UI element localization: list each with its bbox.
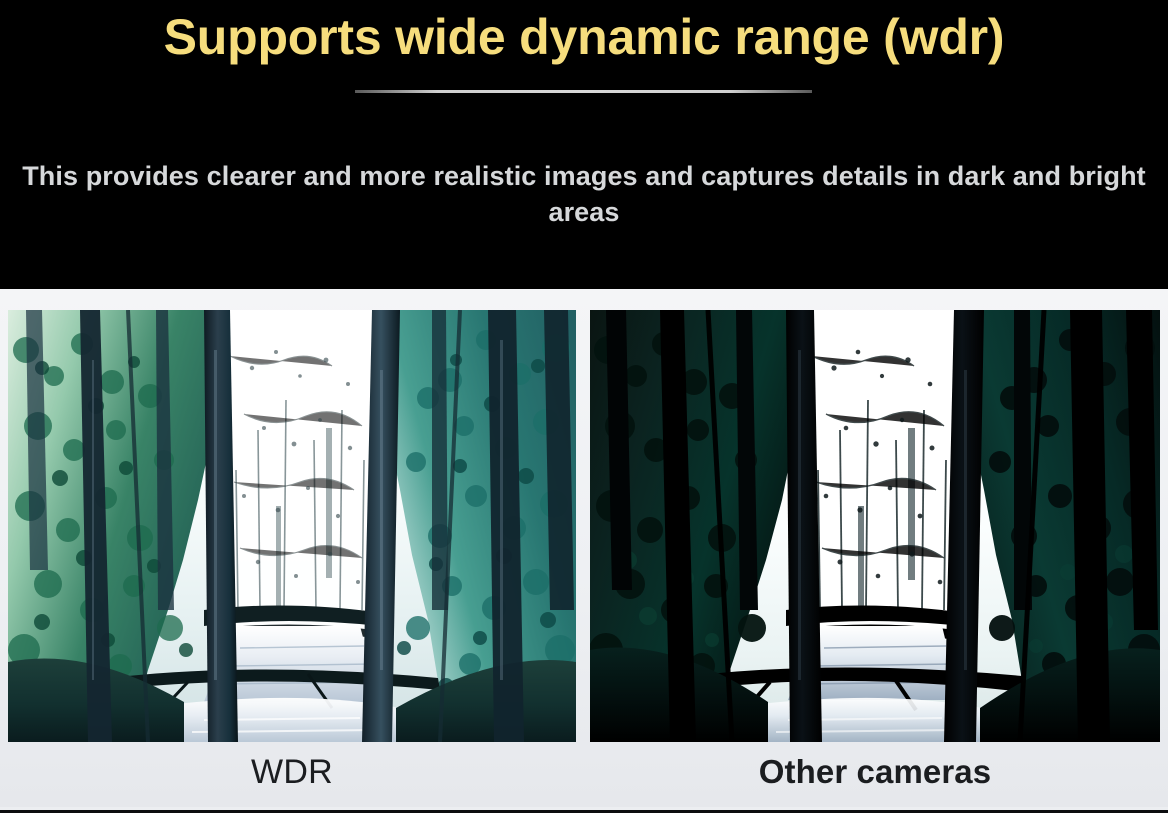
- caption-wdr: WDR: [8, 742, 576, 802]
- forest-scene-wdr: [8, 310, 576, 742]
- image-panel-wdr[interactable]: [8, 310, 576, 742]
- header-band: Supports wide dynamic range (wdr) This p…: [0, 0, 1168, 289]
- wdr-comparison-slide: Supports wide dynamic range (wdr) This p…: [0, 0, 1168, 813]
- image-panel-other-cameras[interactable]: [590, 310, 1160, 742]
- page-subtitle: This provides clearer and more realistic…: [14, 158, 1154, 230]
- page-title: Supports wide dynamic range (wdr): [0, 6, 1168, 68]
- caption-row: WDR Other cameras: [0, 742, 1168, 802]
- panel-row: [0, 289, 1168, 742]
- caption-other-cameras: Other cameras: [590, 742, 1160, 802]
- forest-scene-other: [590, 310, 1160, 742]
- comparison-section: WDR Other cameras: [0, 289, 1168, 807]
- title-divider: [355, 90, 812, 93]
